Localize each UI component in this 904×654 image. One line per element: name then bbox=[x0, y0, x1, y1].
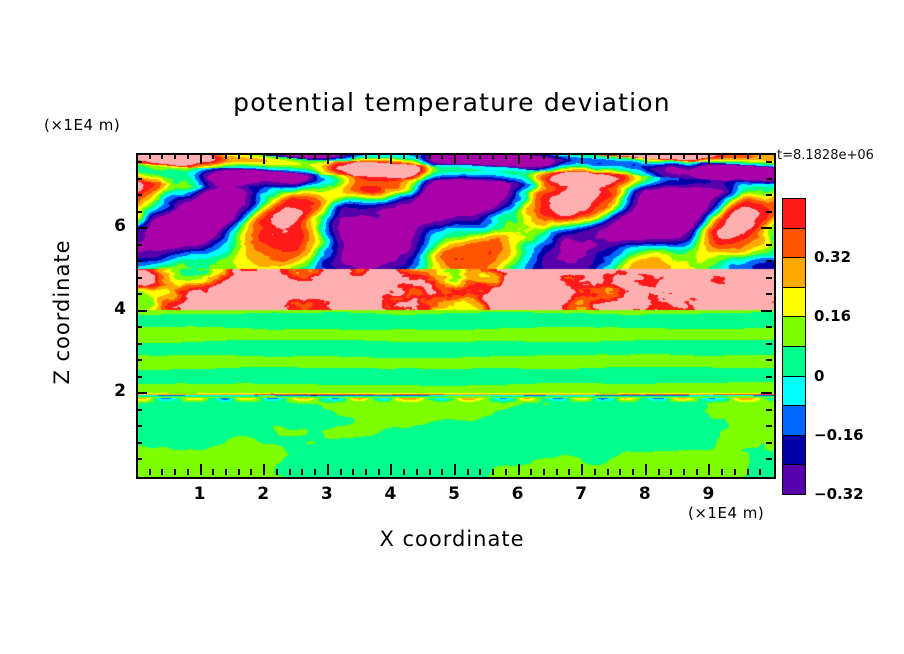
y-minor-tick-right bbox=[766, 326, 772, 328]
y-minor-tick bbox=[136, 161, 142, 163]
x-minor-tick bbox=[683, 469, 685, 475]
x-minor-tick-top bbox=[161, 153, 163, 159]
x-major-tick bbox=[518, 464, 520, 475]
y-minor-tick bbox=[136, 442, 142, 444]
x-minor-tick bbox=[378, 469, 380, 475]
y-minor-tick-right bbox=[766, 244, 772, 246]
x-minor-tick-top bbox=[403, 153, 405, 159]
colorbar-cell bbox=[782, 316, 806, 347]
x-major-tick-top bbox=[390, 153, 392, 164]
x-minor-tick-top bbox=[759, 153, 761, 159]
x-major-tick bbox=[390, 464, 392, 475]
y-minor-tick-right bbox=[766, 425, 772, 427]
x-major-tick-top bbox=[645, 153, 647, 164]
y-minor-tick-right bbox=[766, 277, 772, 279]
x-minor-tick-top bbox=[594, 153, 596, 159]
x-minor-tick-top bbox=[467, 153, 469, 159]
x-minor-tick bbox=[594, 469, 596, 475]
x-minor-tick bbox=[429, 469, 431, 475]
x-minor-tick-top bbox=[238, 153, 240, 159]
y-major-tick-right bbox=[761, 392, 772, 394]
contour-plot-area bbox=[136, 153, 776, 479]
colorbar-cell bbox=[782, 228, 806, 259]
y-minor-tick-right bbox=[766, 161, 772, 163]
x-minor-tick bbox=[441, 469, 443, 475]
colorbar-cell bbox=[782, 405, 806, 436]
y-major-tick bbox=[136, 392, 147, 394]
x-major-tick-top bbox=[327, 153, 329, 164]
y-minor-tick bbox=[136, 326, 142, 328]
x-major-tick bbox=[645, 464, 647, 475]
x-minor-tick-top bbox=[301, 153, 303, 159]
x-minor-tick bbox=[607, 469, 609, 475]
y-minor-tick-right bbox=[766, 442, 772, 444]
x-minor-tick bbox=[530, 469, 532, 475]
colorbar-cell bbox=[782, 346, 806, 377]
y-axis-title: Z coordinate bbox=[50, 212, 74, 412]
x-minor-tick-top bbox=[505, 153, 507, 159]
y-minor-tick bbox=[136, 376, 142, 378]
x-minor-tick bbox=[149, 469, 151, 475]
x-minor-tick-top bbox=[416, 153, 418, 159]
x-major-tick bbox=[263, 464, 265, 475]
x-minor-tick-top bbox=[250, 153, 252, 159]
x-minor-tick-top bbox=[747, 153, 749, 159]
x-minor-tick bbox=[403, 469, 405, 475]
x-minor-tick bbox=[289, 469, 291, 475]
x-tick-label: 3 bbox=[312, 484, 342, 504]
x-minor-tick bbox=[670, 469, 672, 475]
z-axis-unit-label: (×1E4 m) bbox=[44, 116, 120, 134]
x-minor-tick bbox=[250, 469, 252, 475]
x-major-tick bbox=[454, 464, 456, 475]
x-minor-tick-top bbox=[365, 153, 367, 159]
y-minor-tick bbox=[136, 260, 142, 262]
colorbar-cell bbox=[782, 376, 806, 407]
x-tick-label: 5 bbox=[439, 484, 469, 504]
x-tick-label: 6 bbox=[503, 484, 533, 504]
x-minor-tick bbox=[721, 469, 723, 475]
x-axis-title: X coordinate bbox=[0, 527, 904, 551]
x-minor-tick-top bbox=[314, 153, 316, 159]
x-minor-tick-top bbox=[696, 153, 698, 159]
y-minor-tick bbox=[136, 293, 142, 295]
x-minor-tick bbox=[238, 469, 240, 475]
x-minor-tick-top bbox=[619, 153, 621, 159]
x-tick-label: 8 bbox=[630, 484, 660, 504]
time-annotation: t=8.1828e+06 bbox=[777, 148, 874, 163]
x-minor-tick-top bbox=[670, 153, 672, 159]
x-minor-tick bbox=[556, 469, 558, 475]
contour-figure: potential temperature deviation (×1E4 m)… bbox=[0, 0, 904, 654]
colorbar-tick-label: 0.16 bbox=[814, 307, 851, 325]
y-minor-tick bbox=[136, 343, 142, 345]
x-minor-tick-top bbox=[149, 153, 151, 159]
x-minor-tick-top bbox=[632, 153, 634, 159]
x-minor-tick-top bbox=[429, 153, 431, 159]
x-minor-tick bbox=[365, 469, 367, 475]
colorbar-tick-label: −0.16 bbox=[814, 426, 864, 444]
x-minor-tick-top bbox=[212, 153, 214, 159]
x-major-tick-top bbox=[708, 153, 710, 164]
x-major-tick-top bbox=[200, 153, 202, 164]
x-minor-tick bbox=[161, 469, 163, 475]
x-major-tick bbox=[581, 464, 583, 475]
x-major-tick-top bbox=[518, 153, 520, 164]
x-minor-tick bbox=[759, 469, 761, 475]
y-minor-tick bbox=[136, 425, 142, 427]
y-minor-tick-right bbox=[766, 343, 772, 345]
x-tick-label: 4 bbox=[375, 484, 405, 504]
colorbar-cell bbox=[782, 198, 806, 229]
y-minor-tick bbox=[136, 211, 142, 213]
x-minor-tick bbox=[734, 469, 736, 475]
y-tick-label: 2 bbox=[100, 381, 126, 401]
x-minor-tick bbox=[416, 469, 418, 475]
colorbar-cell bbox=[782, 464, 806, 495]
x-minor-tick bbox=[225, 469, 227, 475]
x-major-tick bbox=[200, 464, 202, 475]
x-major-tick-top bbox=[454, 153, 456, 164]
x-axis-unit-label: (×1E4 m) bbox=[688, 504, 764, 522]
scalar-field-canvas bbox=[138, 155, 774, 477]
x-major-tick bbox=[708, 464, 710, 475]
x-minor-tick bbox=[276, 469, 278, 475]
x-tick-label: 9 bbox=[693, 484, 723, 504]
page-title: potential temperature deviation bbox=[0, 88, 904, 117]
x-tick-label: 1 bbox=[185, 484, 215, 504]
x-minor-tick-top bbox=[530, 153, 532, 159]
y-major-tick-right bbox=[761, 227, 772, 229]
colorbar-cell bbox=[782, 257, 806, 288]
x-minor-tick-top bbox=[683, 153, 685, 159]
x-minor-tick bbox=[658, 469, 660, 475]
x-minor-tick bbox=[747, 469, 749, 475]
x-minor-tick-top bbox=[378, 153, 380, 159]
x-minor-tick-top bbox=[479, 153, 481, 159]
x-minor-tick bbox=[301, 469, 303, 475]
x-minor-tick bbox=[632, 469, 634, 475]
x-minor-tick-top bbox=[352, 153, 354, 159]
y-minor-tick bbox=[136, 458, 142, 460]
colorbar bbox=[782, 198, 806, 494]
x-minor-tick bbox=[352, 469, 354, 475]
x-minor-tick-top bbox=[225, 153, 227, 159]
y-minor-tick-right bbox=[766, 359, 772, 361]
x-major-tick-top bbox=[263, 153, 265, 164]
x-minor-tick-top bbox=[492, 153, 494, 159]
x-minor-tick-top bbox=[543, 153, 545, 159]
y-minor-tick-right bbox=[766, 260, 772, 262]
x-tick-label: 7 bbox=[566, 484, 596, 504]
y-minor-tick-right bbox=[766, 194, 772, 196]
x-minor-tick bbox=[174, 469, 176, 475]
y-major-tick bbox=[136, 227, 147, 229]
x-minor-tick-top bbox=[721, 153, 723, 159]
y-minor-tick-right bbox=[766, 409, 772, 411]
colorbar-cell bbox=[782, 435, 806, 466]
y-minor-tick bbox=[136, 194, 142, 196]
y-major-tick-right bbox=[761, 310, 772, 312]
x-minor-tick-top bbox=[568, 153, 570, 159]
x-major-tick-top bbox=[581, 153, 583, 164]
y-tick-label: 6 bbox=[100, 216, 126, 236]
y-minor-tick-right bbox=[766, 293, 772, 295]
x-minor-tick-top bbox=[441, 153, 443, 159]
colorbar-tick-label: −0.32 bbox=[814, 485, 864, 503]
y-minor-tick-right bbox=[766, 178, 772, 180]
x-minor-tick-top bbox=[174, 153, 176, 159]
y-minor-tick bbox=[136, 409, 142, 411]
y-minor-tick-right bbox=[766, 211, 772, 213]
x-minor-tick bbox=[340, 469, 342, 475]
y-tick-label: 4 bbox=[100, 299, 126, 319]
y-minor-tick bbox=[136, 244, 142, 246]
x-minor-tick bbox=[479, 469, 481, 475]
x-minor-tick-top bbox=[187, 153, 189, 159]
x-minor-tick bbox=[492, 469, 494, 475]
x-minor-tick bbox=[696, 469, 698, 475]
x-tick-label: 2 bbox=[248, 484, 278, 504]
y-minor-tick bbox=[136, 277, 142, 279]
x-minor-tick bbox=[505, 469, 507, 475]
x-minor-tick bbox=[187, 469, 189, 475]
y-minor-tick-right bbox=[766, 376, 772, 378]
x-minor-tick bbox=[619, 469, 621, 475]
x-minor-tick-top bbox=[556, 153, 558, 159]
y-major-tick bbox=[136, 310, 147, 312]
x-minor-tick-top bbox=[289, 153, 291, 159]
y-minor-tick-right bbox=[766, 458, 772, 460]
x-minor-tick-top bbox=[276, 153, 278, 159]
x-minor-tick bbox=[314, 469, 316, 475]
x-minor-tick-top bbox=[734, 153, 736, 159]
x-minor-tick bbox=[543, 469, 545, 475]
x-minor-tick-top bbox=[658, 153, 660, 159]
y-minor-tick bbox=[136, 178, 142, 180]
colorbar-tick-label: 0.32 bbox=[814, 248, 851, 266]
x-minor-tick-top bbox=[340, 153, 342, 159]
x-minor-tick-top bbox=[607, 153, 609, 159]
x-minor-tick bbox=[212, 469, 214, 475]
y-minor-tick bbox=[136, 359, 142, 361]
colorbar-tick-label: 0 bbox=[814, 367, 824, 385]
colorbar-cell bbox=[782, 287, 806, 318]
x-major-tick bbox=[327, 464, 329, 475]
x-minor-tick bbox=[568, 469, 570, 475]
x-minor-tick bbox=[467, 469, 469, 475]
